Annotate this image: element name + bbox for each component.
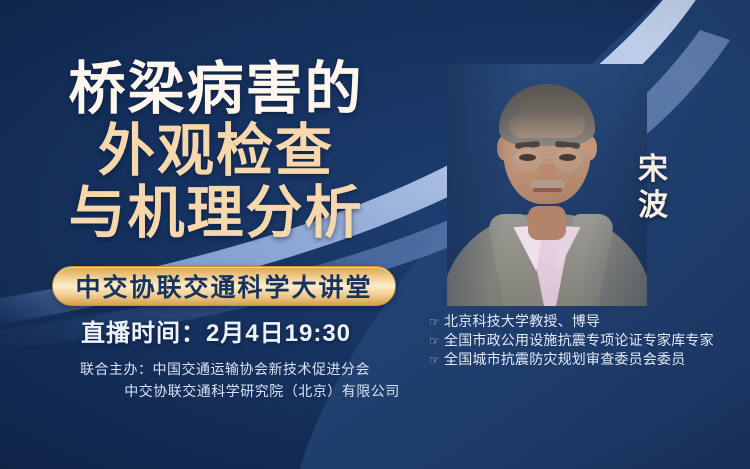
title-line-1: 桥梁病害的 xyxy=(0,62,432,118)
speaker-name: 宋 波 xyxy=(631,152,675,224)
pointing-hand-icon: ☞ xyxy=(429,332,443,351)
credential-row: ☞ 北京科技大学教授、博导 xyxy=(429,312,714,331)
speaker-name-char-1: 宋 xyxy=(631,152,675,188)
credential-text: 全国市政公用设施抗震专项论证专家库专家 xyxy=(444,331,714,350)
series-badge: 中交协联交通科学大讲堂 xyxy=(52,266,396,306)
credential-row: ☞ 全国城市抗震防灾规划审查委员会委员 xyxy=(429,350,714,369)
organizer-line-2: 中交协联交通科学研究院（北京）有限公司 xyxy=(0,380,450,402)
portrait-shading-overlay xyxy=(447,64,647,306)
credential-text: 全国城市抗震防灾规划审查委员会委员 xyxy=(444,350,685,369)
pointing-hand-icon: ☞ xyxy=(429,351,443,370)
title-line-2: 外观检查 xyxy=(0,124,432,180)
series-badge-label: 中交协联交通科学大讲堂 xyxy=(75,268,372,304)
pointing-hand-icon: ☞ xyxy=(429,313,443,332)
organizer-line-1: 联合主办：中国交通运输协会新技术促进分会 xyxy=(0,358,450,380)
speaker-portrait-image xyxy=(447,64,647,306)
webinar-poster: 桥梁病害的 外观检查 与机理分析 中交协联交通科学大讲堂 直播时间：2月4日19… xyxy=(0,0,750,469)
title-line-3: 与机理分析 xyxy=(0,186,432,242)
speaker-credentials: ☞ 北京科技大学教授、博导 ☞ 全国市政公用设施抗震专项论证专家库专家 ☞ 全国… xyxy=(429,312,714,369)
organizers-block: 联合主办：中国交通运输协会新技术促进分会 中交协联交通科学研究院（北京）有限公司 xyxy=(0,358,450,402)
speaker-photo xyxy=(447,64,647,306)
speaker-name-char-2: 波 xyxy=(631,188,675,224)
credential-text: 北京科技大学教授、博导 xyxy=(444,312,600,331)
poster-title: 桥梁病害的 外观检查 与机理分析 xyxy=(0,62,432,242)
credential-row: ☞ 全国市政公用设施抗震专项论证专家库专家 xyxy=(429,331,714,350)
live-time-text: 直播时间：2月4日19:30 xyxy=(0,313,432,348)
